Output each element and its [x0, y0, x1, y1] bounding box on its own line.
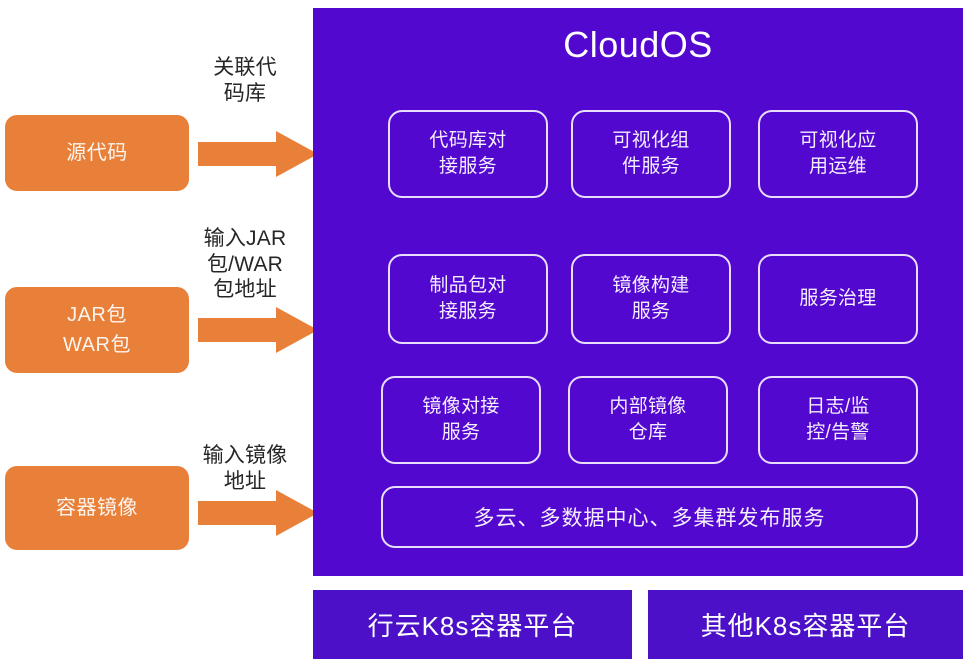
diagram-canvas: 源代码 JAR包 WAR包 容器镜像 关联代 码库 输入JAR 包/WAR 包地…: [0, 0, 963, 659]
arrow-label-line1: 关联代: [189, 55, 301, 81]
input-box-container-image: 容器镜像: [5, 466, 189, 550]
input-box-label: 源代码: [66, 138, 128, 168]
service-card-log-monitor-alert[interactable]: 日志/监 控/告警: [758, 376, 918, 464]
service-card-multi-cloud-release-service[interactable]: 多云、多数据中心、多集群发布服务: [381, 486, 918, 548]
service-card-label-line2: 接服务: [429, 154, 506, 180]
arrow-label-line2: 包/WAR: [189, 252, 301, 278]
service-card-label-line2: 服务: [612, 299, 689, 325]
arrow-label-input-image: 输入镜像 地址: [189, 443, 301, 494]
service-card-artifact-package-integration-service[interactable]: 制品包对 接服务: [388, 254, 548, 344]
arrow-label-line1: 输入镜像: [189, 443, 301, 469]
arrow-label-line1: 输入JAR: [189, 226, 301, 252]
arrow-label-line3: 包地址: [189, 277, 301, 303]
service-card-label-line2: 用运维: [799, 154, 876, 180]
arrow-label-input-jar-war: 输入JAR 包/WAR 包地址: [189, 226, 301, 303]
service-card-label-line1: 日志/监: [806, 394, 869, 420]
input-box-label-line1: JAR包: [67, 300, 127, 330]
arrow-label-line2: 码库: [189, 81, 301, 107]
service-card-label-line1: 镜像构建: [612, 273, 689, 299]
service-card-label-line1: 可视化组: [612, 128, 689, 154]
service-card-label-line1: 内部镜像: [609, 394, 686, 420]
platform-bar-other-k8s[interactable]: 其他K8s容器平台: [648, 590, 963, 659]
service-card-label-line2: 控/告警: [806, 420, 869, 446]
service-card-service-governance[interactable]: 服务治理: [758, 254, 918, 344]
service-card-label-line2: 接服务: [429, 299, 506, 325]
input-box-jar-war-package: JAR包 WAR包: [5, 287, 189, 373]
service-card-label-line1: 制品包对: [429, 273, 506, 299]
service-card-image-integration-service[interactable]: 镜像对接 服务: [381, 376, 541, 464]
input-box-source-code: 源代码: [5, 115, 189, 191]
service-card-label-line1: 镜像对接: [422, 394, 499, 420]
service-card-code-repo-integration-service[interactable]: 代码库对 接服务: [388, 110, 548, 198]
arrow-right-icon: [198, 307, 318, 353]
cloudos-title: CloudOS: [313, 24, 963, 66]
arrow-right-icon: [198, 131, 318, 177]
arrow-label-associate-repo: 关联代 码库: [189, 55, 301, 106]
cloudos-panel: CloudOS 代码库对 接服务 可视化组 件服务 可视化应 用运维 制品包对: [313, 8, 963, 576]
service-card-visual-app-ops[interactable]: 可视化应 用运维: [758, 110, 918, 198]
service-card-visual-component-service[interactable]: 可视化组 件服务: [571, 110, 731, 198]
input-box-label-line2: WAR包: [63, 330, 131, 360]
service-card-label-line1: 服务治理: [799, 286, 876, 312]
service-card-label-line2: 件服务: [612, 154, 689, 180]
input-box-label: 容器镜像: [56, 493, 138, 523]
service-card-label-line2: 服务: [422, 420, 499, 446]
service-card-internal-image-registry[interactable]: 内部镜像 仓库: [568, 376, 728, 464]
arrow-right-icon: [198, 490, 318, 536]
service-card-image-build-service[interactable]: 镜像构建 服务: [571, 254, 731, 344]
platform-bar-xingyun-k8s[interactable]: 行云K8s容器平台: [313, 590, 632, 659]
service-card-label-line2: 仓库: [609, 420, 686, 446]
service-card-label-line1: 可视化应: [799, 128, 876, 154]
service-card-label-line1: 代码库对: [429, 128, 506, 154]
